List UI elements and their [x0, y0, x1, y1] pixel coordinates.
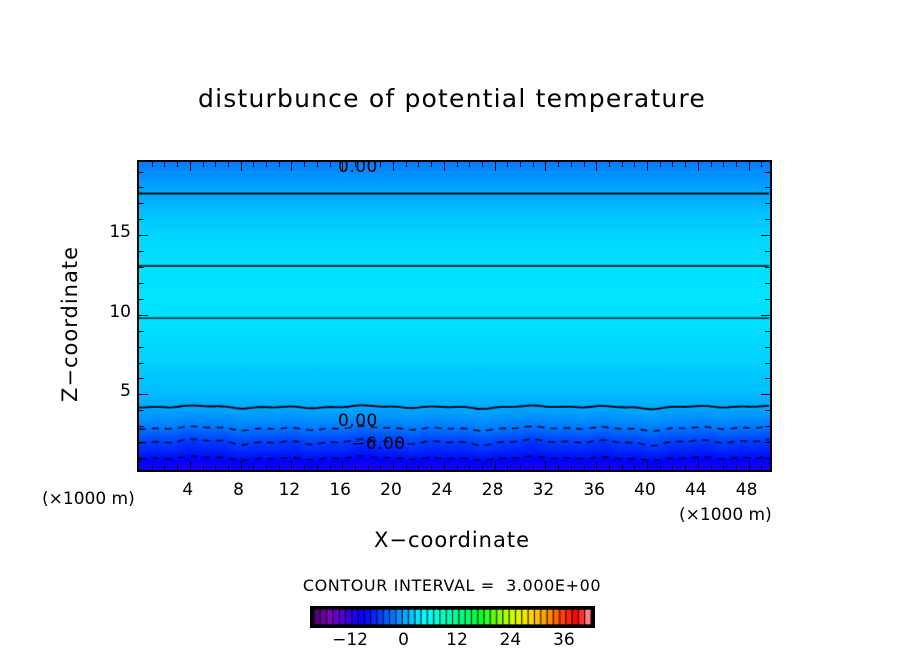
x-tick	[672, 162, 673, 167]
z-tick	[765, 363, 770, 364]
x-tick	[444, 162, 445, 171]
z-tick	[139, 235, 148, 236]
z-tick	[139, 203, 144, 204]
z-tick	[139, 331, 144, 332]
x-tick	[291, 461, 292, 470]
x-tick	[203, 465, 204, 470]
z-tick	[139, 299, 144, 300]
contour-field-canvas	[139, 162, 770, 470]
z-tick	[765, 347, 770, 348]
y-tick-label: 10	[101, 302, 131, 322]
x-tick	[609, 162, 610, 167]
colorbar-tick-label: 12	[427, 630, 487, 650]
x-tick	[723, 465, 724, 470]
x-tick	[457, 465, 458, 470]
x-tick	[406, 465, 407, 470]
x-tick	[558, 162, 559, 167]
z-tick	[139, 315, 148, 316]
x-tick	[495, 461, 496, 470]
x-tick	[418, 465, 419, 470]
x-tick	[368, 465, 369, 470]
x-tick	[736, 162, 737, 167]
colorbar-tick-label: −12	[320, 630, 380, 650]
z-tick	[761, 235, 770, 236]
z-tick	[139, 251, 144, 252]
x-tick	[558, 465, 559, 470]
x-axis-tick-labels: 4812162024283236404448	[137, 480, 772, 502]
x-tick	[266, 162, 267, 167]
z-tick	[765, 219, 770, 220]
x-tick	[330, 162, 331, 167]
x-tick	[431, 162, 432, 167]
x-tick	[761, 162, 762, 167]
z-tick	[765, 203, 770, 204]
x-tick	[241, 461, 242, 470]
x-tick	[685, 465, 686, 470]
x-tick	[190, 461, 191, 470]
x-tick	[190, 162, 191, 171]
colorbar-tick-labels: −120122436	[310, 630, 595, 652]
x-tick	[584, 162, 585, 167]
x-tick	[355, 465, 356, 470]
plot-page: disturbunce of potential temperature 0.0…	[0, 0, 904, 654]
x-tick-label: 4	[168, 480, 208, 500]
z-tick	[765, 187, 770, 188]
x-tick	[253, 162, 254, 167]
z-tick	[765, 283, 770, 284]
z-tick	[139, 219, 144, 220]
colorbar	[310, 606, 595, 628]
x-tick	[330, 465, 331, 470]
x-tick	[571, 162, 572, 167]
z-tick	[139, 458, 144, 459]
x-tick	[469, 162, 470, 167]
plot-area: 0.000.00−6.00	[137, 160, 772, 472]
x-tick	[215, 465, 216, 470]
z-tick	[765, 267, 770, 268]
x-tick	[622, 465, 623, 470]
z-tick	[761, 315, 770, 316]
y-axis-tick-labels: 51015	[100, 160, 131, 472]
x-tick	[736, 465, 737, 470]
z-tick	[139, 410, 144, 411]
z-tick	[139, 187, 144, 188]
x-tick	[698, 461, 699, 470]
x-tick	[431, 465, 432, 470]
x-tick-label: 40	[625, 480, 665, 500]
x-tick	[418, 162, 419, 167]
y-tick-label: 15	[101, 222, 131, 242]
z-tick	[765, 378, 770, 379]
x-tick-label: 32	[523, 480, 563, 500]
x-axis-title: X−coordinate	[0, 528, 904, 552]
z-tick	[765, 172, 770, 173]
z-tick	[139, 394, 148, 395]
z-tick	[765, 442, 770, 443]
x-tick	[634, 465, 635, 470]
z-tick	[139, 347, 144, 348]
x-tick	[482, 465, 483, 470]
x-tick	[266, 465, 267, 470]
x-tick	[533, 162, 534, 167]
z-tick	[139, 267, 144, 268]
contour-label: 0.00	[338, 411, 378, 431]
x-tick-label: 44	[676, 480, 716, 500]
x-tick-label: 28	[473, 480, 513, 500]
x-tick	[634, 162, 635, 167]
z-tick	[139, 426, 144, 427]
z-tick	[765, 426, 770, 427]
z-tick	[765, 331, 770, 332]
x-tick	[342, 461, 343, 470]
x-tick-label: 20	[371, 480, 411, 500]
z-tick	[139, 172, 144, 173]
z-tick	[139, 442, 144, 443]
x-tick	[495, 162, 496, 171]
x-tick	[380, 465, 381, 470]
x-tick	[164, 162, 165, 167]
z-tick	[765, 410, 770, 411]
x-tick	[647, 461, 648, 470]
x-tick	[152, 162, 153, 167]
x-tick	[444, 461, 445, 470]
x-tick	[507, 465, 508, 470]
x-axis-unit-label: (×1000 m)	[679, 505, 772, 525]
x-tick-label: 8	[219, 480, 259, 500]
x-tick	[203, 162, 204, 167]
x-tick	[660, 162, 661, 167]
x-tick	[685, 162, 686, 167]
x-tick	[380, 162, 381, 167]
z-tick	[139, 283, 144, 284]
x-tick	[215, 162, 216, 167]
colorbar-tick-label: 0	[374, 630, 434, 650]
x-tick	[596, 162, 597, 171]
x-tick	[723, 162, 724, 167]
x-tick	[317, 465, 318, 470]
x-tick	[698, 162, 699, 171]
x-tick	[571, 465, 572, 470]
x-tick	[749, 461, 750, 470]
x-tick	[177, 162, 178, 167]
x-tick	[596, 461, 597, 470]
x-tick-label: 16	[320, 480, 360, 500]
x-tick	[761, 465, 762, 470]
z-tick	[139, 363, 144, 364]
contour-label: −6.00	[351, 434, 406, 454]
x-tick	[520, 162, 521, 167]
x-tick	[279, 162, 280, 167]
x-tick	[609, 465, 610, 470]
colorbar-tick-label: 36	[534, 630, 594, 650]
x-tick	[545, 162, 546, 171]
x-tick	[545, 461, 546, 470]
x-tick	[393, 461, 394, 470]
x-tick-label: 48	[727, 480, 767, 500]
x-tick	[507, 162, 508, 167]
x-tick	[317, 162, 318, 167]
x-tick	[164, 465, 165, 470]
x-tick	[660, 465, 661, 470]
x-tick	[469, 465, 470, 470]
x-tick-label: 12	[269, 480, 309, 500]
x-tick	[279, 465, 280, 470]
x-tick	[177, 465, 178, 470]
x-tick	[520, 465, 521, 470]
contour-interval-note: CONTOUR INTERVAL = 3.000E+00	[0, 576, 904, 595]
z-tick	[765, 299, 770, 300]
x-tick	[291, 162, 292, 171]
x-tick	[228, 465, 229, 470]
x-tick	[647, 162, 648, 171]
x-tick	[304, 162, 305, 167]
x-tick	[393, 162, 394, 171]
x-tick	[457, 162, 458, 167]
contour-label: 0.00	[338, 160, 378, 177]
page-title: disturbunce of potential temperature	[0, 84, 904, 113]
x-tick	[253, 465, 254, 470]
x-tick	[672, 465, 673, 470]
x-tick	[622, 162, 623, 167]
x-tick-label: 24	[422, 480, 462, 500]
x-tick	[711, 162, 712, 167]
x-tick	[584, 465, 585, 470]
x-tick	[711, 465, 712, 470]
x-tick	[241, 162, 242, 171]
z-tick	[139, 378, 144, 379]
x-tick	[304, 465, 305, 470]
x-tick	[406, 162, 407, 167]
x-tick	[482, 162, 483, 167]
y-tick-label: 5	[101, 381, 131, 401]
z-tick	[761, 394, 770, 395]
z-tick	[765, 458, 770, 459]
colorbar-gradient	[310, 606, 595, 628]
x-tick-label: 36	[574, 480, 614, 500]
y-axis-unit-label: (×1000 m)	[42, 489, 135, 509]
colorbar-tick-label: 24	[480, 630, 540, 650]
x-tick	[228, 162, 229, 167]
x-tick	[533, 465, 534, 470]
y-axis-title: Z−coordinate	[58, 224, 82, 424]
x-tick	[152, 465, 153, 470]
z-tick	[765, 251, 770, 252]
x-tick	[749, 162, 750, 171]
